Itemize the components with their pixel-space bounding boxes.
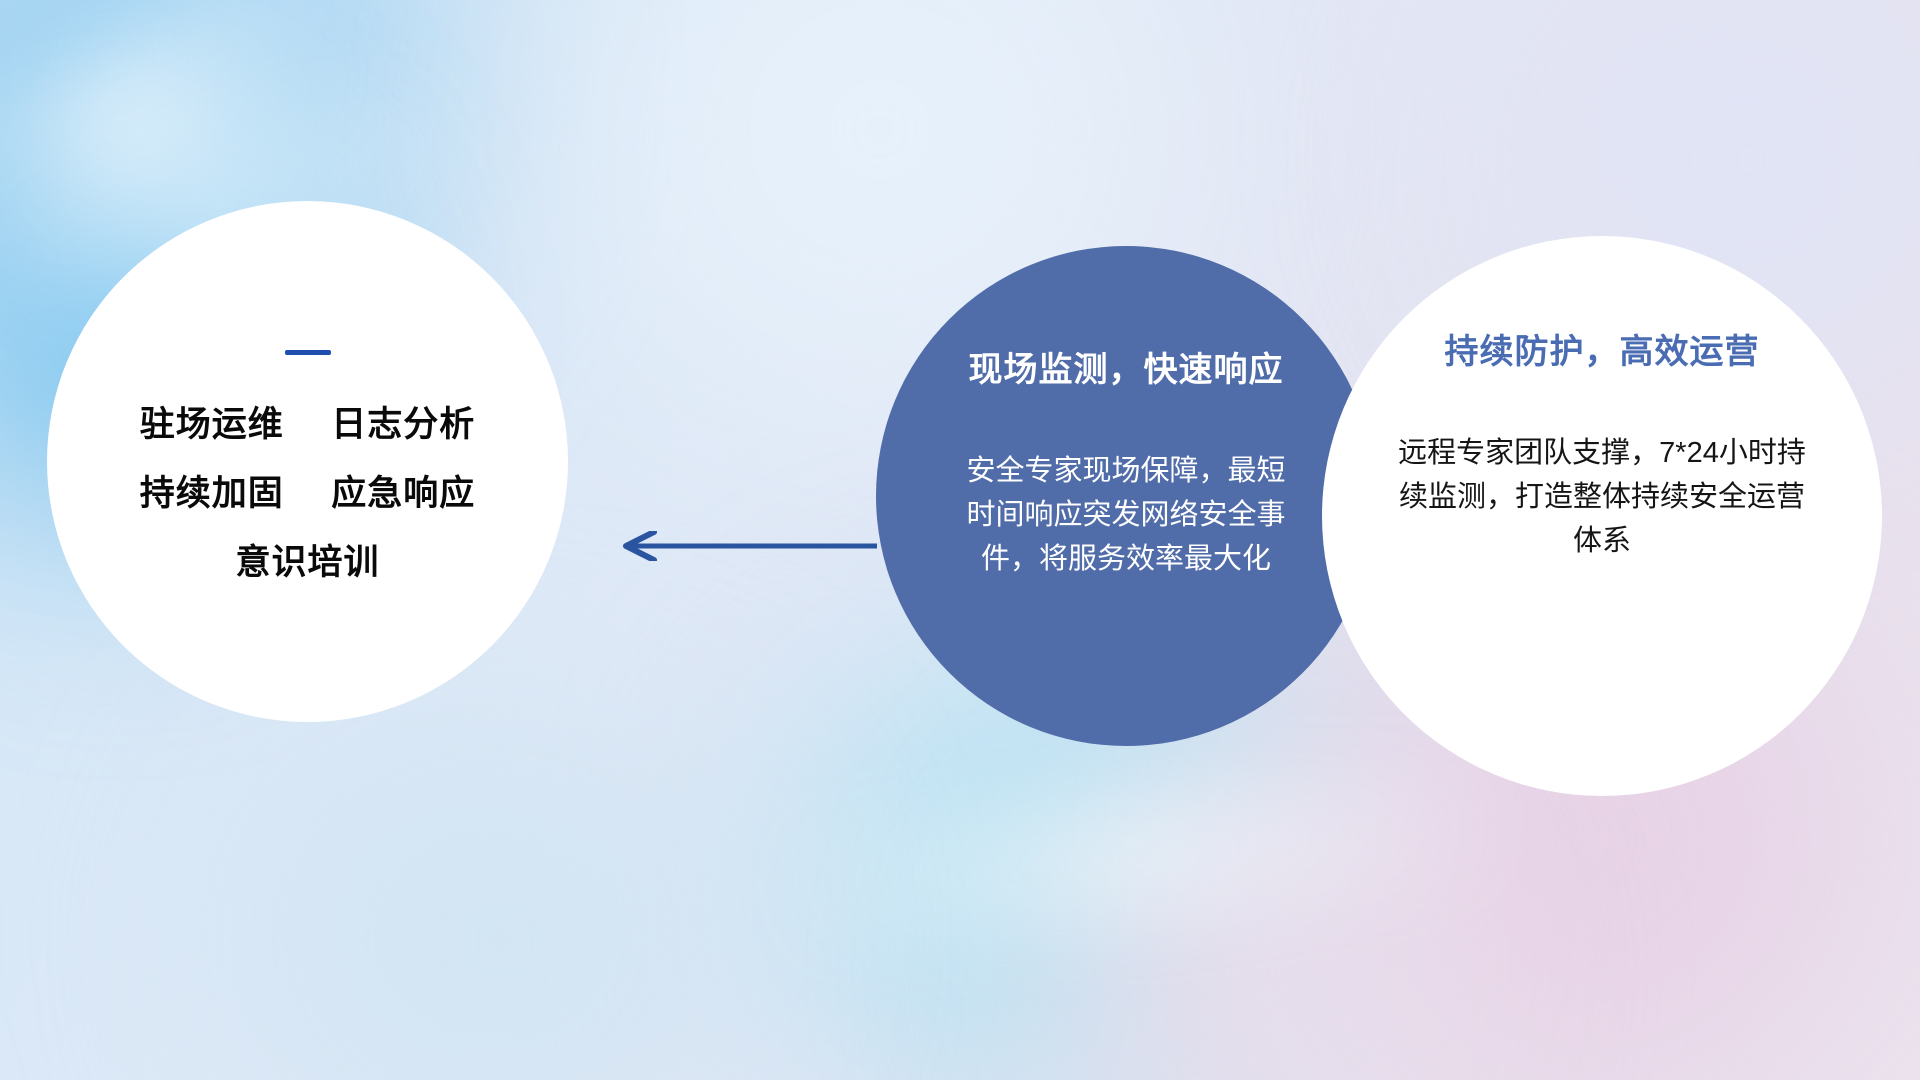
keyword-yingji-xiangying: 应急响应 — [331, 474, 475, 513]
left-white-circle[interactable]: 驻场运维 日志分析 持续加固 应急响应 意识培训 — [47, 201, 568, 722]
diagram-stage: 现场监测，快速响应 安全专家现场保障，最短时间响应突发网络安全事件，将服务效率最… — [0, 0, 1920, 1080]
keyword-rizhi-fenxi: 日志分析 — [331, 405, 475, 444]
left-arrow-icon — [612, 531, 877, 561]
left-circle-content: 驻场运维 日志分析 持续加固 应急响应 意识培训 — [47, 201, 568, 722]
right-circle-content: 持续防护，高效运营 远程专家团队支撑，7*24小时持续监测，打造整体持续安全运营… — [1322, 236, 1882, 796]
middle-circle-body: 安全专家现场保障，最短时间响应突发网络安全事件，将服务效率最大化 — [961, 449, 1291, 581]
right-circle-body: 远程专家团队支撑，7*24小时持续监测，打造整体持续安全运营体系 — [1392, 431, 1812, 563]
middle-blue-circle[interactable]: 现场监测，快速响应 安全专家现场保障，最短时间响应突发网络安全事件，将服务效率最… — [876, 246, 1376, 746]
keyword-chixu-jiagu: 持续加固 — [140, 474, 284, 513]
accent-dash-icon — [285, 350, 331, 355]
right-white-circle[interactable]: 持续防护，高效运营 远程专家团队支撑，7*24小时持续监测，打造整体持续安全运营… — [1322, 236, 1882, 796]
right-circle-title: 持续防护，高效运营 — [1445, 324, 1760, 373]
middle-circle-content: 现场监测，快速响应 安全专家现场保障，最短时间响应突发网络安全事件，将服务效率最… — [876, 246, 1376, 746]
keyword-zhuchang-yunwei: 驻场运维 — [140, 405, 284, 444]
left-circle-line-3: 意识培训 — [235, 545, 379, 580]
left-circle-line-1: 驻场运维 日志分析 — [140, 407, 476, 442]
middle-circle-title: 现场监测，快速响应 — [969, 342, 1284, 391]
keyword-yishi-peixun: 意识培训 — [235, 543, 379, 582]
left-circle-line-2: 持续加固 应急响应 — [140, 476, 476, 511]
